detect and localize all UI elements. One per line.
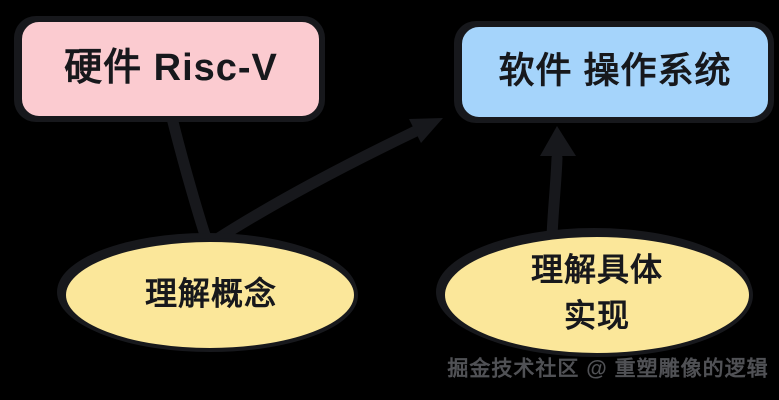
node-software-label: 软件 操作系统 — [498, 50, 731, 91]
edge-concept-to-hardware — [172, 118, 207, 241]
node-concept-label: 理解概念 — [145, 275, 277, 311]
flowchart-svg: 硬件 Risc-V 软件 操作系统 理解概念 理解具体 实现 掘金技术社区 @ … — [0, 0, 779, 400]
node-hardware-label: 硬件 Risc-V — [64, 47, 278, 89]
node-hardware[interactable]: 硬件 Risc-V — [14, 16, 325, 122]
edge-implementation-to-software — [552, 158, 557, 237]
diagram-canvas: 硬件 Risc-V 软件 操作系统 理解概念 理解具体 实现 掘金技术社区 @ … — [0, 0, 779, 400]
node-implementation[interactable]: 理解具体 实现 — [436, 228, 752, 356]
arrowhead-implementation-to-software — [540, 126, 576, 156]
watermark: 掘金技术社区 @ 重塑雕像的逻辑 — [447, 357, 768, 381]
node-software[interactable]: 软件 操作系统 — [454, 21, 774, 123]
node-implementation-label-line2: 实现 — [564, 297, 630, 333]
edge-concept-to-software — [214, 130, 418, 241]
edge-layer — [172, 118, 576, 241]
node-implementation-label-line1: 理解具体 — [531, 251, 663, 287]
node-concept[interactable]: 理解概念 — [57, 233, 357, 351]
